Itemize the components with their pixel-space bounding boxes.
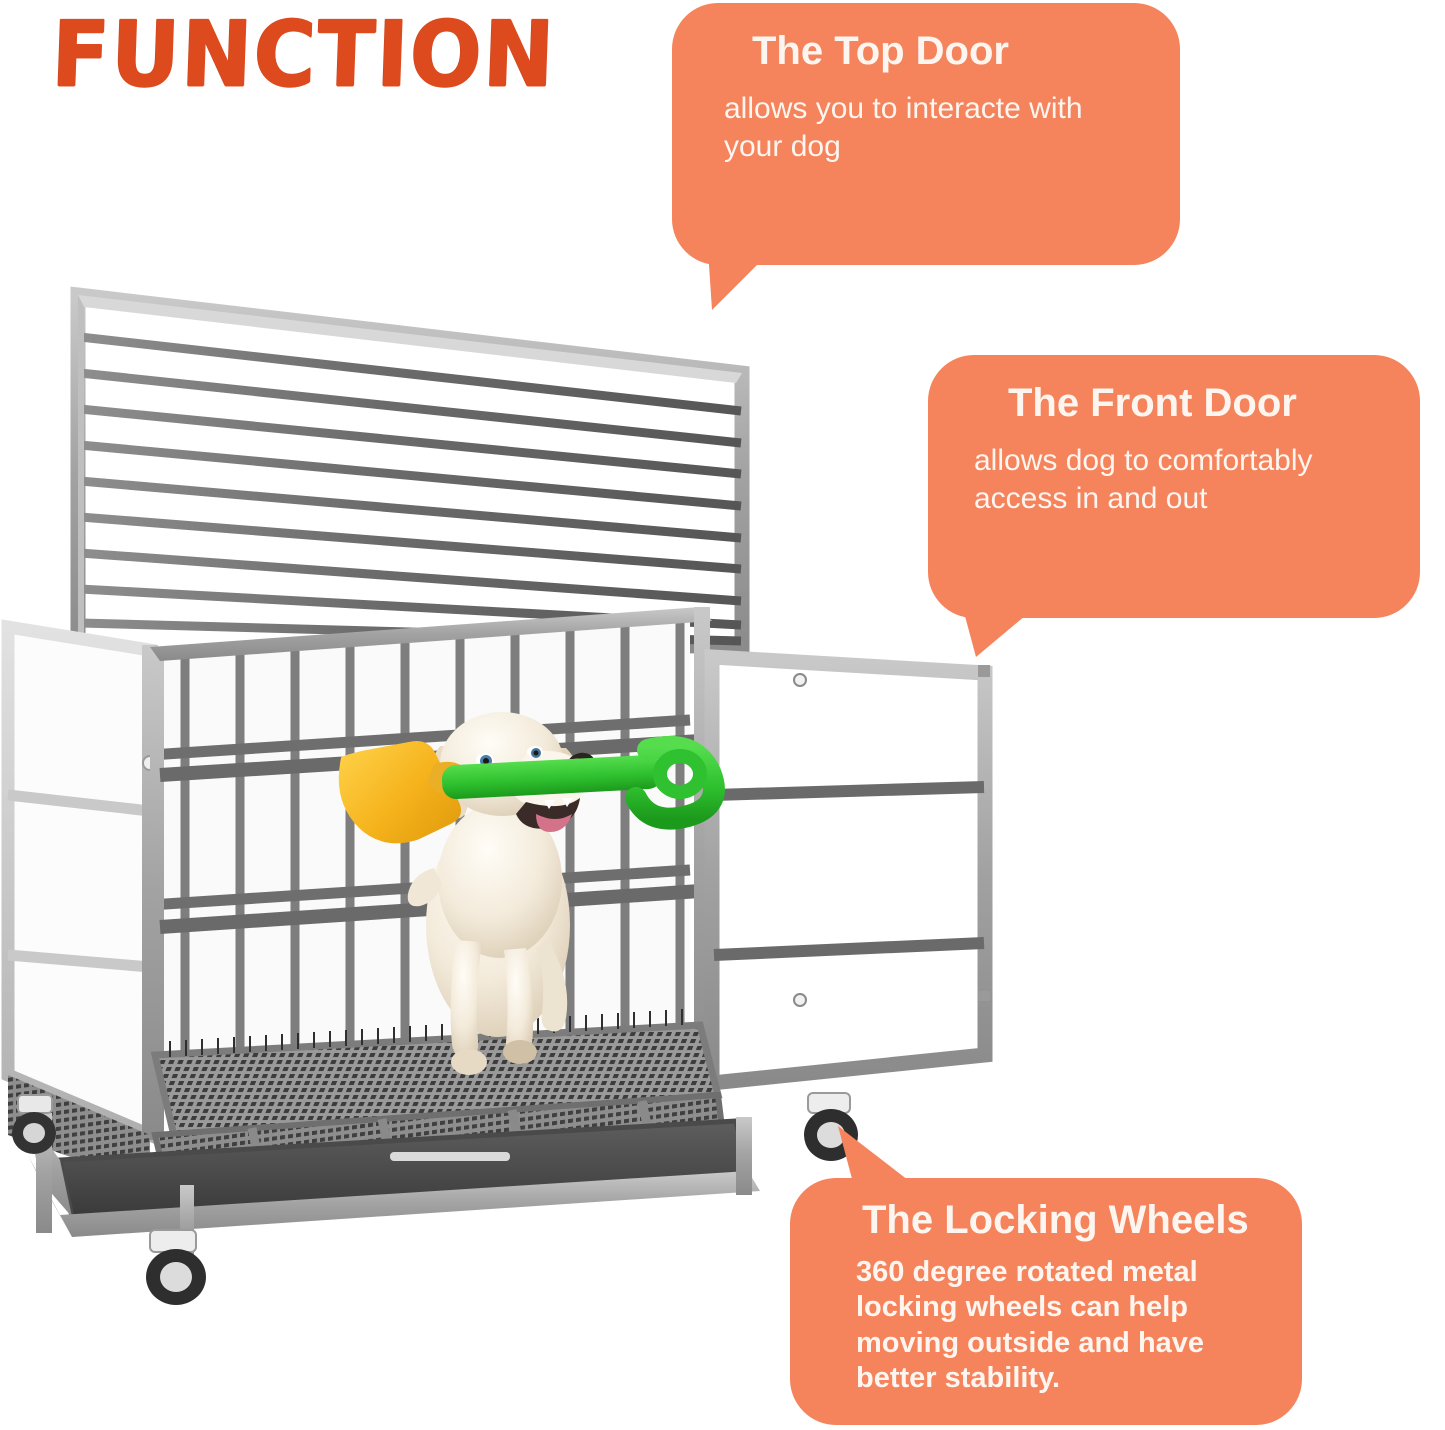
callout-locking-wheels[interactable]: The Locking Wheels 360 degree rotated me… — [790, 1178, 1302, 1425]
left-side-panel — [8, 627, 158, 1140]
callout-front-door[interactable]: The Front Door allows dog to comfortably… — [928, 355, 1420, 618]
callout-top-door-tail — [660, 250, 860, 320]
callout-front-door-heading: The Front Door — [1008, 381, 1386, 426]
callout-locking-wheels-body: 360 degree rotated metal locking wheels … — [856, 1255, 1272, 1397]
callout-top-door-body: allows you to interacte with your dog — [724, 90, 1146, 167]
callout-top-door-heading: The Top Door — [752, 29, 1146, 74]
door-hinge-bottom-icon — [794, 994, 806, 1006]
door-hinge-top-icon — [794, 674, 806, 686]
callout-front-door-tail — [940, 605, 1140, 665]
infographic-canvas: FUNCTION — [0, 0, 1445, 1430]
dog-with-toy — [330, 690, 760, 1110]
tray-handle — [390, 1152, 510, 1161]
top-lid-panel[interactable] — [78, 295, 742, 659]
dog-body — [408, 802, 570, 1075]
page-title: FUNCTION — [50, 9, 557, 100]
callout-front-door-body: allows dog to comfortably access in and … — [974, 442, 1386, 519]
callout-top-door[interactable]: The Top Door allows you to interacte wit… — [672, 3, 1180, 265]
callout-locking-wheels-heading: The Locking Wheels — [862, 1198, 1272, 1243]
